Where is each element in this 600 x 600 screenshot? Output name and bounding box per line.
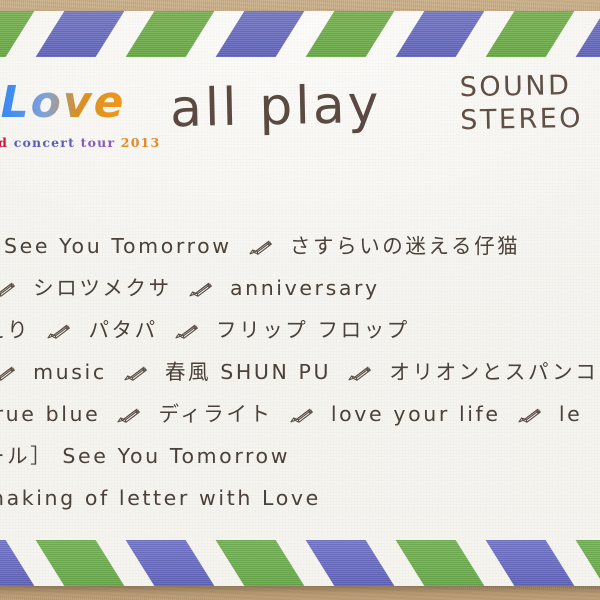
pencil-icon <box>174 311 200 327</box>
pencil-icon <box>188 269 214 285</box>
pencil-icon <box>116 395 142 411</box>
stripe-segment <box>207 540 313 586</box>
stripe-segment <box>117 540 223 586</box>
stripe-segment <box>117 11 223 57</box>
tracklist-line: シロツメクサ anniversary <box>0 267 600 309</box>
tracklist: See You Tomorrow さすらいの迷える仔猫 シロツメクサ anniv… <box>0 225 600 519</box>
tracklist-line: See You Tomorrow さすらいの迷える仔猫 <box>0 225 600 267</box>
tracklist-line: true blue ディライト love your life le <box>0 393 600 435</box>
photo-scene: h Love 2nd concert tour 2013 all play SO… <box>0 0 600 600</box>
pencil-icon <box>248 227 274 243</box>
tracklist-line: music 春風 SHUN PU オリオンとスパンコー <box>0 351 600 393</box>
stripe-segment <box>27 540 133 586</box>
pencil-icon <box>289 395 315 411</box>
stripe-segment <box>567 540 600 586</box>
envelope-card: h Love 2nd concert tour 2013 all play SO… <box>0 11 600 586</box>
stripe-segment <box>0 540 43 586</box>
stripe-segment <box>567 11 600 57</box>
tracklist-line: ール］ See You Tomorrow <box>0 435 600 477</box>
tour-subtitle-part: 2nd <box>0 135 8 150</box>
sound-stereo-label: SOUND STEREO <box>459 70 583 138</box>
logo-with-love: h Love <box>0 77 125 128</box>
tracklist-line: making of letter with Love <box>0 477 600 519</box>
sound-label: SOUND <box>459 70 582 105</box>
stripe-segment <box>207 11 313 57</box>
airmail-stripe-top <box>0 11 600 57</box>
pencil-icon <box>347 353 373 369</box>
stripe-segment <box>297 540 403 586</box>
stripe-segment <box>477 540 583 586</box>
pencil-icon <box>46 311 72 327</box>
tour-subtitle-part: 2013 <box>121 135 161 150</box>
page-title: all play <box>169 75 382 139</box>
stripe-segment <box>27 11 133 57</box>
tour-subtitle: 2nd concert tour 2013 <box>0 135 160 150</box>
stripe-segment <box>477 11 583 57</box>
pencil-icon <box>0 353 17 369</box>
stripe-segment <box>297 11 403 57</box>
card-header: h Love 2nd concert tour 2013 all play SO… <box>0 57 600 182</box>
airmail-stripe-bottom <box>0 540 600 586</box>
pencil-icon <box>0 269 17 285</box>
stripe-segment <box>387 540 493 586</box>
pencil-icon <box>123 353 149 369</box>
tour-subtitle-part: tour <box>81 135 116 150</box>
pencil-icon <box>517 395 543 411</box>
stereo-label: STEREO <box>460 103 583 138</box>
tracklist-line: えり パタパ フリップ フロップ <box>0 309 600 351</box>
tour-subtitle-part: concert <box>14 135 75 150</box>
stripe-segment <box>387 11 493 57</box>
stripe-segment <box>0 11 43 57</box>
